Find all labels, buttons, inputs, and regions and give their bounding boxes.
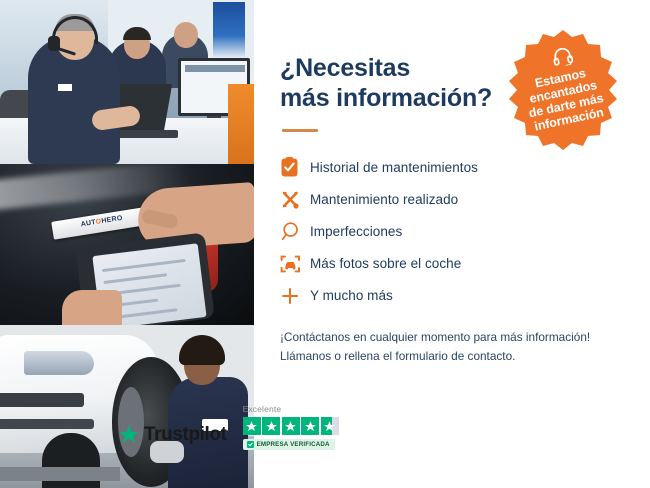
trustpilot-widget[interactable]: Trustpilot Excelente <box>118 404 339 450</box>
promo-banner: AUTOHERO <box>0 0 650 488</box>
verified-label: EMPRESA VERIFICADA <box>257 441 330 448</box>
inspection-ruler-photo: AUTOHERO <box>0 164 254 325</box>
info-badge: Estamos encantados de darte más informac… <box>500 28 626 154</box>
feature-label: Mantenimiento realizado <box>310 192 458 207</box>
feature-item-imperfections: Imperfecciones <box>280 216 650 248</box>
feature-label: Historial de mantenimientos <box>310 160 478 175</box>
star-filled <box>243 417 261 435</box>
contact-line-2: Llámanos o rellena el formulario de cont… <box>280 347 650 366</box>
trustpilot-rating: Excelente <box>243 404 339 450</box>
star-rating <box>243 417 339 435</box>
agent-name-badge <box>58 84 72 91</box>
title-divider <box>282 129 318 132</box>
trustpilot-wordmark: Trustpilot <box>144 424 227 446</box>
star-partial <box>321 417 339 435</box>
star-filled <box>282 417 300 435</box>
maintenance-history-icon <box>280 157 310 178</box>
headlight <box>24 351 94 375</box>
feature-list: Historial de mantenimientos M <box>280 152 650 312</box>
check-icon <box>247 441 254 448</box>
agent-background-head <box>174 22 198 48</box>
tablet-line <box>103 273 167 284</box>
feature-item-maintenance-done: Mantenimiento realizado <box>280 184 650 216</box>
star-filled <box>262 417 280 435</box>
car-photo-frame-icon <box>280 254 310 274</box>
feature-label: Y mucho más <box>310 288 393 303</box>
wall-poster <box>213 2 245 58</box>
badge-text: Estamos encantados de darte más informac… <box>488 16 637 165</box>
feature-item-more-photos: Más fotos sobre el coche <box>280 248 650 280</box>
contact-line-1: ¡Contáctanos en cualquier momento para m… <box>280 328 650 347</box>
feature-item-more: Y mucho más <box>280 280 650 312</box>
contact-text: ¡Contáctanos en cualquier momento para m… <box>280 328 650 366</box>
magnifier-icon <box>280 221 310 242</box>
monitor-header-bar <box>185 65 245 72</box>
trustpilot-logo[interactable]: Trustpilot <box>118 424 227 450</box>
car-lift-arm <box>0 467 120 481</box>
feature-item-maintenance-history: Historial de mantenimientos <box>280 152 650 184</box>
call-center-agents-photo <box>0 0 254 164</box>
inspector-hand-holding-tablet <box>62 290 122 325</box>
plus-icon <box>280 286 310 306</box>
page-title-line2: más información? <box>280 84 492 112</box>
orange-equipment <box>228 84 254 164</box>
feature-label: Imperfecciones <box>310 224 402 239</box>
star-filled <box>301 417 319 435</box>
verified-business-badge: EMPRESA VERIFICADA <box>243 439 335 450</box>
grille-upper <box>0 393 84 407</box>
rating-label: Excelente <box>243 404 282 414</box>
page-title-line1: ¿Necesitas <box>280 54 410 82</box>
tools-cross-icon <box>280 189 310 210</box>
trustpilot-star-icon <box>118 424 140 446</box>
tablet-line <box>102 259 186 272</box>
feature-label: Más fotos sobre el coche <box>310 256 461 271</box>
grille-lower <box>0 419 94 429</box>
